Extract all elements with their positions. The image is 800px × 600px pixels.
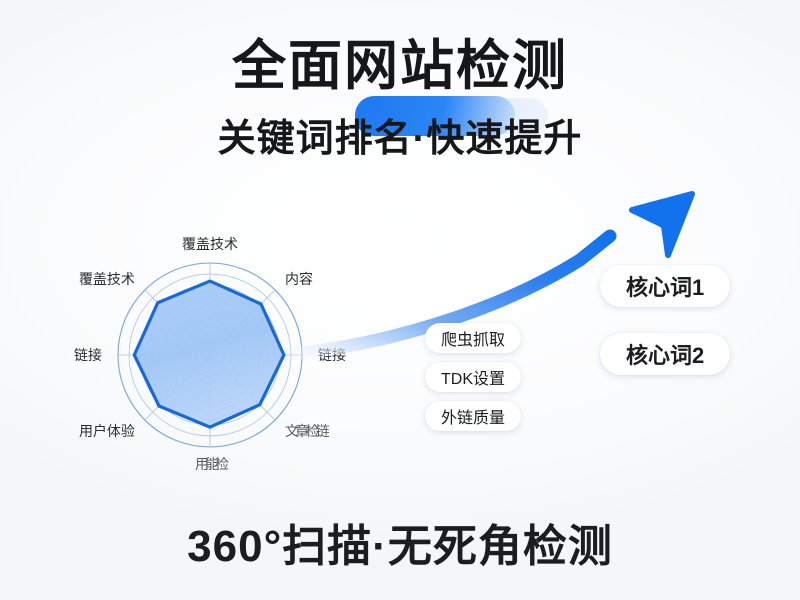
radar-axis-label-1: 内容 <box>285 271 313 287</box>
radar-chart: 覆盖技术内容链接文章·检链用能检用户体验链接覆盖技术 <box>20 190 400 510</box>
radar-axis-label-3: 文章·检链 <box>285 423 330 439</box>
radar-axis-label-0: 覆盖技术 <box>182 236 238 252</box>
radar-axis-label-6: 链接 <box>74 347 102 363</box>
radar-axis-label-2: 链接 <box>318 347 346 363</box>
chip-keyword-0[interactable]: 核心词1 <box>600 265 730 307</box>
chip-detail-0[interactable]: 爬虫抓取 <box>425 323 521 353</box>
arrow-head <box>632 194 692 255</box>
footer-tagline: 360°扫描·无死角检测 <box>187 519 613 575</box>
page-title: 全面网站检测 <box>232 34 568 98</box>
headline-block: 全面网站检测 <box>0 34 800 98</box>
chip-detail-2[interactable]: 外链质量 <box>425 401 521 431</box>
subheadline-block: 关键词排名·快速提升 <box>0 115 800 163</box>
radar-axis-label-7: 覆盖技术 <box>79 271 135 287</box>
chip-keyword-1[interactable]: 核心词2 <box>600 333 730 375</box>
poster-canvas: 全面网站检测 关键词排名·快速提升 覆盖技术内容链接文章·检链用能检用户体验链接… <box>0 0 800 600</box>
footer-block: 360°扫描·无死角检测 <box>0 519 800 575</box>
radar-series-polygon <box>134 281 284 427</box>
page-subtitle: 关键词排名·快速提升 <box>218 115 583 163</box>
radar-axis-label-5: 用户体验 <box>79 423 135 439</box>
chip-detail-1[interactable]: TDK设置 <box>425 362 521 392</box>
radar-axis-label-4: 用能检 <box>195 456 229 472</box>
